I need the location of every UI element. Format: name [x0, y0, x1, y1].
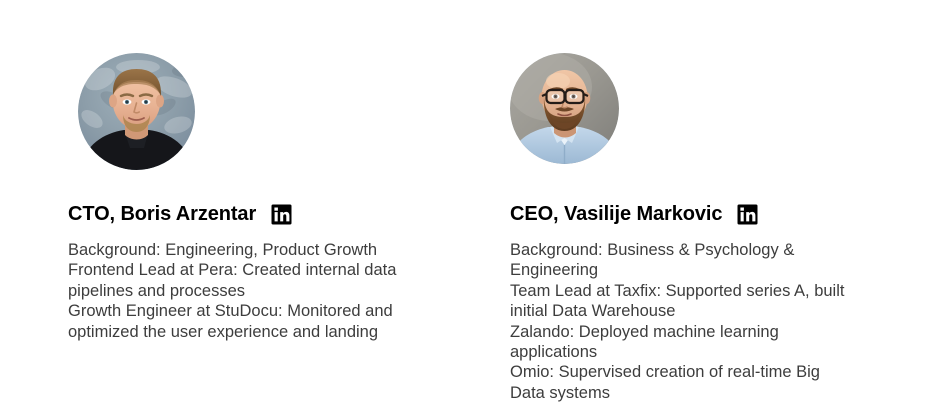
profile-name-row: CTO, Boris Arzentar: [68, 202, 488, 226]
linkedin-icon[interactable]: [271, 204, 292, 225]
bio-line: Background: Engineering, Product Growth: [68, 240, 413, 260]
avatar: [78, 53, 195, 170]
linkedin-icon[interactable]: [737, 204, 758, 225]
profile-card-ceo: CEO, Vasilije Markovic Background: Busin…: [510, 0, 930, 403]
bio-line: Zalando: Deployed machine learning appli…: [510, 322, 858, 363]
person-name: CEO, Vasilije Markovic: [510, 202, 722, 226]
avatar-photo-vasilije: [510, 53, 619, 164]
profile-name-row: CEO, Vasilije Markovic: [510, 202, 930, 226]
team-profiles-section: CTO, Boris Arzentar Background: Engineer…: [0, 0, 948, 412]
profile-card-cto: CTO, Boris Arzentar Background: Engineer…: [68, 0, 488, 342]
avatar: [510, 53, 619, 164]
bio-line: Frontend Lead at Pera: Created internal …: [68, 260, 413, 301]
bio-line: Team Lead at Taxfix: Supported series A,…: [510, 281, 858, 322]
bio-line: Growth Engineer at StuDocu: Monitored an…: [68, 301, 413, 342]
profile-bio: Background: Business & Psychology & Engi…: [510, 240, 858, 403]
avatar-photo-boris: [78, 53, 195, 170]
bio-line: Omio: Supervised creation of real-time B…: [510, 362, 858, 403]
bio-line: Background: Business & Psychology & Engi…: [510, 240, 858, 281]
profile-bio: Background: Engineering, Product Growth …: [68, 240, 413, 342]
person-name: CTO, Boris Arzentar: [68, 202, 256, 226]
